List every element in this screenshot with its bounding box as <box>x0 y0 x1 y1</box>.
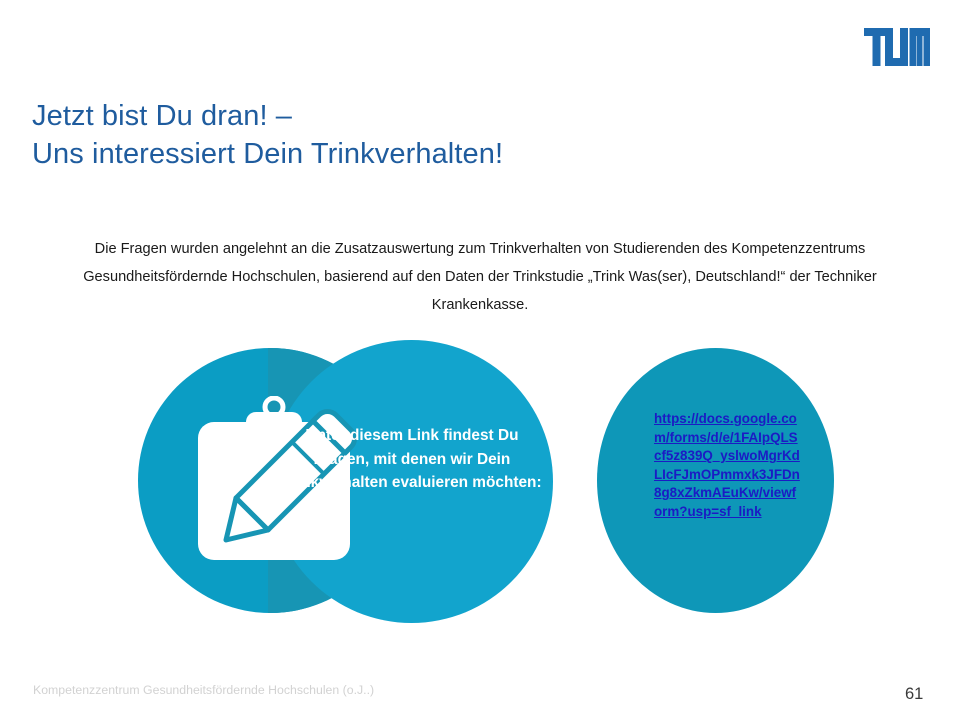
page-title: Jetzt bist Du dran! – Uns interessiert D… <box>32 97 912 173</box>
footer-source: Kompetenzzentrum Gesundheitsfördernde Ho… <box>33 683 374 697</box>
google-form-link[interactable]: https://docs.google.com/forms/d/e/1FAIpQ… <box>654 410 804 522</box>
page-title-line-1: Jetzt bist Du dran! – <box>32 97 912 135</box>
circle-group: Unter diesem Link findest Du Fragen, mit… <box>0 340 960 640</box>
circle-two-text: Unter diesem Link findest Du Fragen, mit… <box>282 424 542 495</box>
page-number: 61 <box>905 685 923 704</box>
tum-logo <box>864 28 930 66</box>
page-title-line-2: Uns interessiert Dein Trinkverhalten! <box>32 135 912 173</box>
intro-paragraph: Die Fragen wurden angelehnt an die Zusat… <box>60 235 900 319</box>
